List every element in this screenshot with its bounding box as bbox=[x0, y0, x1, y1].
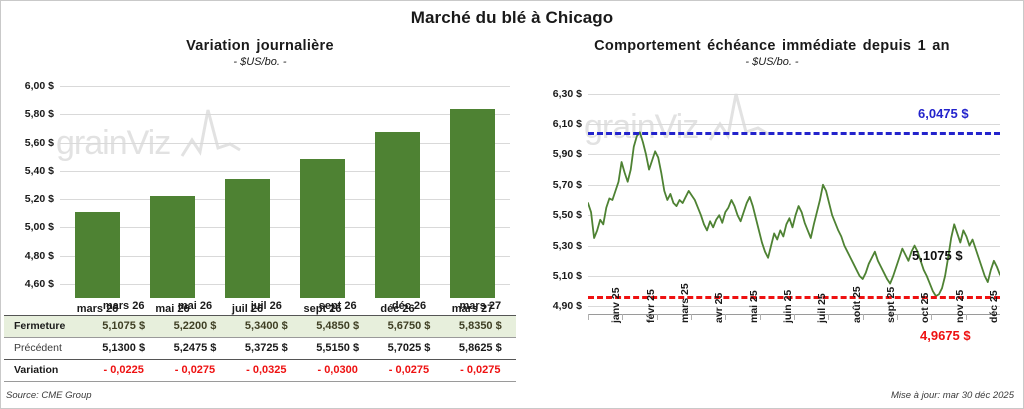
x-axis-month-label: nov 25 bbox=[954, 290, 966, 323]
x-axis-tick-mark bbox=[931, 314, 932, 320]
left-chart-title: Variation journalière bbox=[0, 38, 520, 54]
min-value-label: 4,9675 $ bbox=[920, 328, 971, 343]
max-value-label: 6,0475 $ bbox=[918, 106, 969, 121]
bar bbox=[450, 109, 495, 298]
table-cell-variation: - 0,0300 bbox=[302, 364, 373, 376]
table-header-cell: mars 27 bbox=[445, 300, 516, 312]
gridline bbox=[60, 171, 510, 172]
table-cell-variation: - 0,0275 bbox=[445, 364, 516, 376]
table-cell-precedent: 5,7025 $ bbox=[373, 342, 444, 354]
table-cell-precedent: 5,1300 $ bbox=[88, 342, 159, 354]
y-axis-tick-label: 6,00 $ bbox=[2, 80, 54, 92]
x-axis-month-label: janv 25 bbox=[610, 287, 622, 323]
x-axis-month-label: juin 25 bbox=[782, 290, 794, 323]
y-axis-tick-label: 5,10 $ bbox=[528, 270, 582, 282]
x-axis-tick-mark bbox=[897, 314, 898, 320]
x-axis-month-label: oct 25 bbox=[919, 293, 931, 323]
gridline bbox=[60, 284, 510, 285]
right-panel: Comportement échéance immédiate depuis 1… bbox=[520, 38, 1024, 409]
last-value-label: 5,1075 $ bbox=[912, 248, 963, 263]
gridline bbox=[60, 143, 510, 144]
y-axis-tick-label: 4,90 $ bbox=[528, 300, 582, 312]
y-axis-tick-label: 5,80 $ bbox=[2, 108, 54, 120]
y-axis-tick-label: 6,30 $ bbox=[528, 88, 582, 100]
table-cell-variation: - 0,0275 bbox=[373, 364, 444, 376]
table-row: Fermeture 5,1075 $5,2200 $5,3400 $5,4850… bbox=[4, 316, 516, 337]
x-axis-tick-mark bbox=[828, 314, 829, 320]
table-header-cell: juil 26 bbox=[231, 300, 302, 312]
bar bbox=[300, 159, 345, 298]
y-axis-tick-label: 5,70 $ bbox=[528, 179, 582, 191]
table-row: Précédent 5,1300 $5,2475 $5,3725 $5,5150… bbox=[4, 338, 516, 359]
table-cell-precedent: 5,2475 $ bbox=[159, 342, 230, 354]
left-chart-subtitle: - $US/bo. - bbox=[0, 56, 520, 68]
table-cell-fermeture: 5,1075 $ bbox=[88, 320, 159, 332]
table-header-cell: mai 26 bbox=[159, 300, 230, 312]
x-axis-tick-mark bbox=[588, 314, 589, 320]
gridline bbox=[60, 114, 510, 115]
y-axis-tick-label: 5,90 $ bbox=[528, 148, 582, 160]
x-axis-month-label: mai 25 bbox=[748, 290, 760, 323]
watermark-spark-icon bbox=[178, 104, 248, 164]
table-cell-fermeture: 5,8350 $ bbox=[445, 320, 516, 332]
x-axis-tick-mark bbox=[691, 314, 692, 320]
table-header-cell: sept 26 bbox=[302, 300, 373, 312]
y-axis-tick-label: 5,00 $ bbox=[2, 221, 54, 233]
gridline bbox=[60, 227, 510, 228]
table-header-cell: mars 26 bbox=[88, 300, 159, 312]
table-cell-precedent: 5,5150 $ bbox=[302, 342, 373, 354]
y-axis-tick-label: 6,10 $ bbox=[528, 118, 582, 130]
table-cell-fermeture: 5,6750 $ bbox=[373, 320, 444, 332]
right-chart-title: Comportement échéance immédiate depuis 1… bbox=[520, 38, 1024, 54]
gridline bbox=[60, 256, 510, 257]
gridline bbox=[60, 199, 510, 200]
y-axis-tick-label: 5,20 $ bbox=[2, 193, 54, 205]
bar bbox=[75, 212, 120, 298]
gridline bbox=[60, 86, 510, 87]
x-axis-month-label: sept 25 bbox=[885, 287, 897, 323]
table-cell-variation: - 0,0325 bbox=[231, 364, 302, 376]
table-header-row: mars 26mai 26juil 26sept 26déc 26mars 27 bbox=[4, 296, 516, 315]
update-note: Mise à jour: mar 30 déc 2025 bbox=[891, 390, 1014, 401]
x-axis-month-label: avr 25 bbox=[713, 293, 725, 323]
x-axis-month-label: juil 25 bbox=[816, 293, 828, 323]
table-cell-fermeture: 5,3400 $ bbox=[231, 320, 302, 332]
table-cell-fermeture: 5,2200 $ bbox=[159, 320, 230, 332]
bar bbox=[150, 196, 195, 298]
table-cell-variation: - 0,0225 bbox=[88, 364, 159, 376]
table-cell-fermeture: 5,4850 $ bbox=[302, 320, 373, 332]
table-row: Variation - 0,0225- 0,0275- 0,0325- 0,03… bbox=[4, 360, 516, 381]
x-axis-month-label: mars 25 bbox=[679, 283, 691, 323]
y-axis-tick-label: 5,40 $ bbox=[2, 165, 54, 177]
page-title: Marché du blé à Chicago bbox=[0, 8, 1024, 28]
bar-chart-plot: grainViz 4,60 $4,80 $5,00 $5,20 $5,40 $5… bbox=[60, 86, 510, 298]
bar bbox=[225, 179, 270, 298]
table-cell-precedent: 5,8625 $ bbox=[445, 342, 516, 354]
x-axis-month-label: août 25 bbox=[851, 286, 863, 323]
x-axis-month-label: déc 25 bbox=[988, 290, 1000, 323]
price-line-series bbox=[588, 132, 1000, 296]
x-axis-tick-mark bbox=[622, 314, 623, 320]
y-axis-tick-label: 5,50 $ bbox=[528, 209, 582, 221]
row-label-precedent: Précédent bbox=[9, 342, 62, 354]
table-cell-precedent: 5,3725 $ bbox=[231, 342, 302, 354]
max-reference-line bbox=[588, 132, 1000, 135]
quotes-table: mars 26mai 26juil 26sept 26déc 26mars 27… bbox=[4, 296, 516, 382]
x-axis-tick-mark bbox=[725, 314, 726, 320]
row-label-fermeture: Fermeture bbox=[9, 320, 65, 332]
y-axis-tick-label: 4,60 $ bbox=[2, 278, 54, 290]
table-cell-variation: - 0,0275 bbox=[159, 364, 230, 376]
right-chart-subtitle: - $US/bo. - bbox=[520, 56, 1024, 68]
x-axis-tick-mark bbox=[794, 314, 795, 320]
source-note: Source: CME Group bbox=[6, 390, 92, 401]
bar bbox=[375, 132, 420, 298]
y-axis-tick-label: 5,60 $ bbox=[2, 137, 54, 149]
table-header-cell: déc 26 bbox=[373, 300, 444, 312]
y-axis-tick-label: 5,30 $ bbox=[528, 240, 582, 252]
y-axis-tick-label: 4,80 $ bbox=[2, 250, 54, 262]
row-label-variation: Variation bbox=[9, 364, 58, 376]
table-divider-bottom bbox=[4, 381, 516, 382]
x-axis-month-label: févr 25 bbox=[645, 289, 657, 323]
